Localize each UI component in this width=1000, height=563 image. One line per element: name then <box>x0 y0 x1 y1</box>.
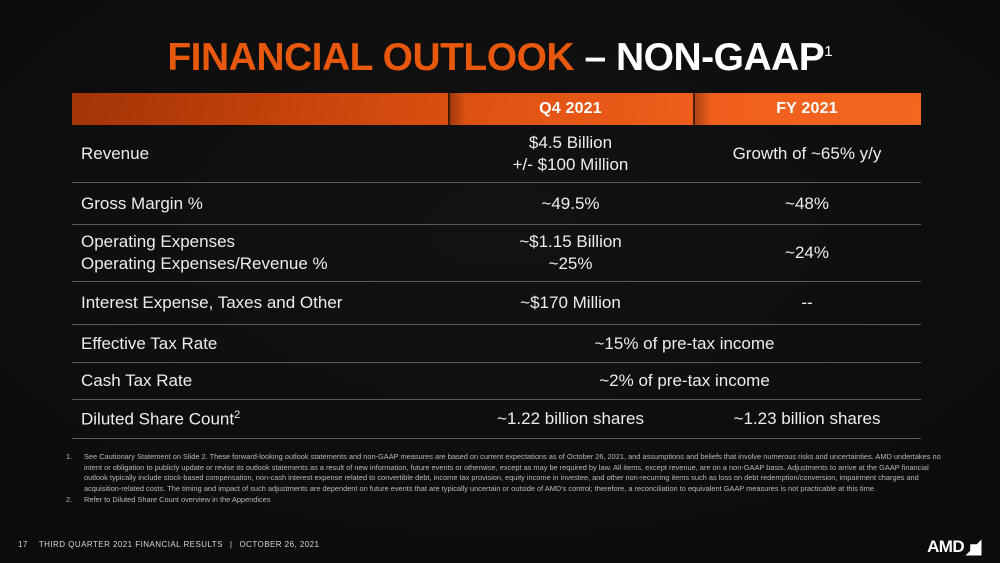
footer-date: OCTOBER 26, 2021 <box>239 540 319 549</box>
table-header-label <box>72 93 448 125</box>
row-q4-value-line1: $4.5 Billion <box>448 132 693 154</box>
title-dash-part: – NON-GAAP <box>584 36 824 79</box>
row-fy-value: ~48% <box>693 193 921 215</box>
table-row: Cash Tax Rate ~2% of pre-tax income <box>72 363 921 400</box>
row-q4-value: $4.5 Billion +/- $100 Million <box>448 132 693 176</box>
row-label: Cash Tax Rate <box>72 370 448 392</box>
row-label: Operating Expenses Operating Expenses/Re… <box>72 231 448 275</box>
footnote-number: 1. <box>62 452 84 494</box>
amd-logo: AMD <box>927 537 982 557</box>
title-superscript: 1 <box>824 43 832 60</box>
row-q4-value-line1: ~$1.15 Billion <box>448 231 693 253</box>
footnote-text: Refer to Diluted Share Count overview in… <box>84 495 952 506</box>
amd-arrow-icon <box>965 539 982 556</box>
title-main: FINANCIAL OUTLOOK <box>167 36 584 79</box>
table-header-fy: FY 2021 <box>693 93 921 125</box>
table-row: Gross Margin % ~49.5% ~48% <box>72 183 921 225</box>
footnotes: 1. See Cautionary Statement on Slide 2. … <box>62 452 952 507</box>
row-q4-value: ~$170 Million <box>448 292 693 314</box>
footnote-item: 2. Refer to Diluted Share Count overview… <box>62 495 952 506</box>
row-label: Interest Expense, Taxes and Other <box>72 292 448 314</box>
row-q4-value-line2: ~25% <box>448 253 693 275</box>
footer-text: 17THIRD QUARTER 2021 FINANCIAL RESULTS|O… <box>18 540 319 549</box>
table-header-row: Q4 2021 FY 2021 <box>72 93 921 125</box>
row-fy-value: Growth of ~65% y/y <box>693 143 921 165</box>
row-q4-value: ~$1.15 Billion ~25% <box>448 231 693 275</box>
row-q4-value: ~1.22 billion shares <box>448 408 693 430</box>
row-fy-value: -- <box>693 292 921 314</box>
footnote-number: 2. <box>62 495 84 506</box>
table-row: Revenue $4.5 Billion +/- $100 Million Gr… <box>72 125 921 183</box>
table-row: Operating Expenses Operating Expenses/Re… <box>72 225 921 282</box>
financial-outlook-table: Q4 2021 FY 2021 Revenue $4.5 Billion +/-… <box>72 93 921 439</box>
deck-title: THIRD QUARTER 2021 FINANCIAL RESULTS <box>39 540 223 549</box>
slide-footer: 17THIRD QUARTER 2021 FINANCIAL RESULTS|O… <box>0 531 1000 563</box>
row-label-line2: Operating Expenses/Revenue % <box>81 253 448 275</box>
row-span-value: ~15% of pre-tax income <box>448 333 921 355</box>
row-label-superscript: 2 <box>234 409 240 421</box>
row-label: Diluted Share Count2 <box>72 408 448 430</box>
row-q4-value-line2: +/- $100 Million <box>448 154 693 176</box>
table-row: Effective Tax Rate ~15% of pre-tax incom… <box>72 325 921 363</box>
row-label-text: Diluted Share Count <box>81 409 234 428</box>
row-label: Effective Tax Rate <box>72 333 448 355</box>
footer-separator: | <box>230 540 233 549</box>
page-title: FINANCIAL OUTLOOK – NON-GAAP1 <box>0 36 1000 80</box>
row-fy-value: ~1.23 billion shares <box>693 408 921 430</box>
table-row: Interest Expense, Taxes and Other ~$170 … <box>72 282 921 325</box>
page-number: 17 <box>18 540 28 549</box>
row-span-value: ~2% of pre-tax income <box>448 370 921 392</box>
amd-logo-text: AMD <box>927 537 964 557</box>
row-label: Revenue <box>72 143 448 165</box>
row-fy-value: ~24% <box>693 242 921 264</box>
table-row: Diluted Share Count2 ~1.22 billion share… <box>72 400 921 439</box>
slide: FINANCIAL OUTLOOK – NON-GAAP1 Q4 2021 FY… <box>0 0 1000 563</box>
footnote-text: See Cautionary Statement on Slide 2. The… <box>84 452 952 494</box>
row-label-line1: Operating Expenses <box>81 231 448 253</box>
footnote-item: 1. See Cautionary Statement on Slide 2. … <box>62 452 952 494</box>
row-label: Gross Margin % <box>72 193 448 215</box>
table-header-q4: Q4 2021 <box>448 93 693 125</box>
row-q4-value: ~49.5% <box>448 193 693 215</box>
